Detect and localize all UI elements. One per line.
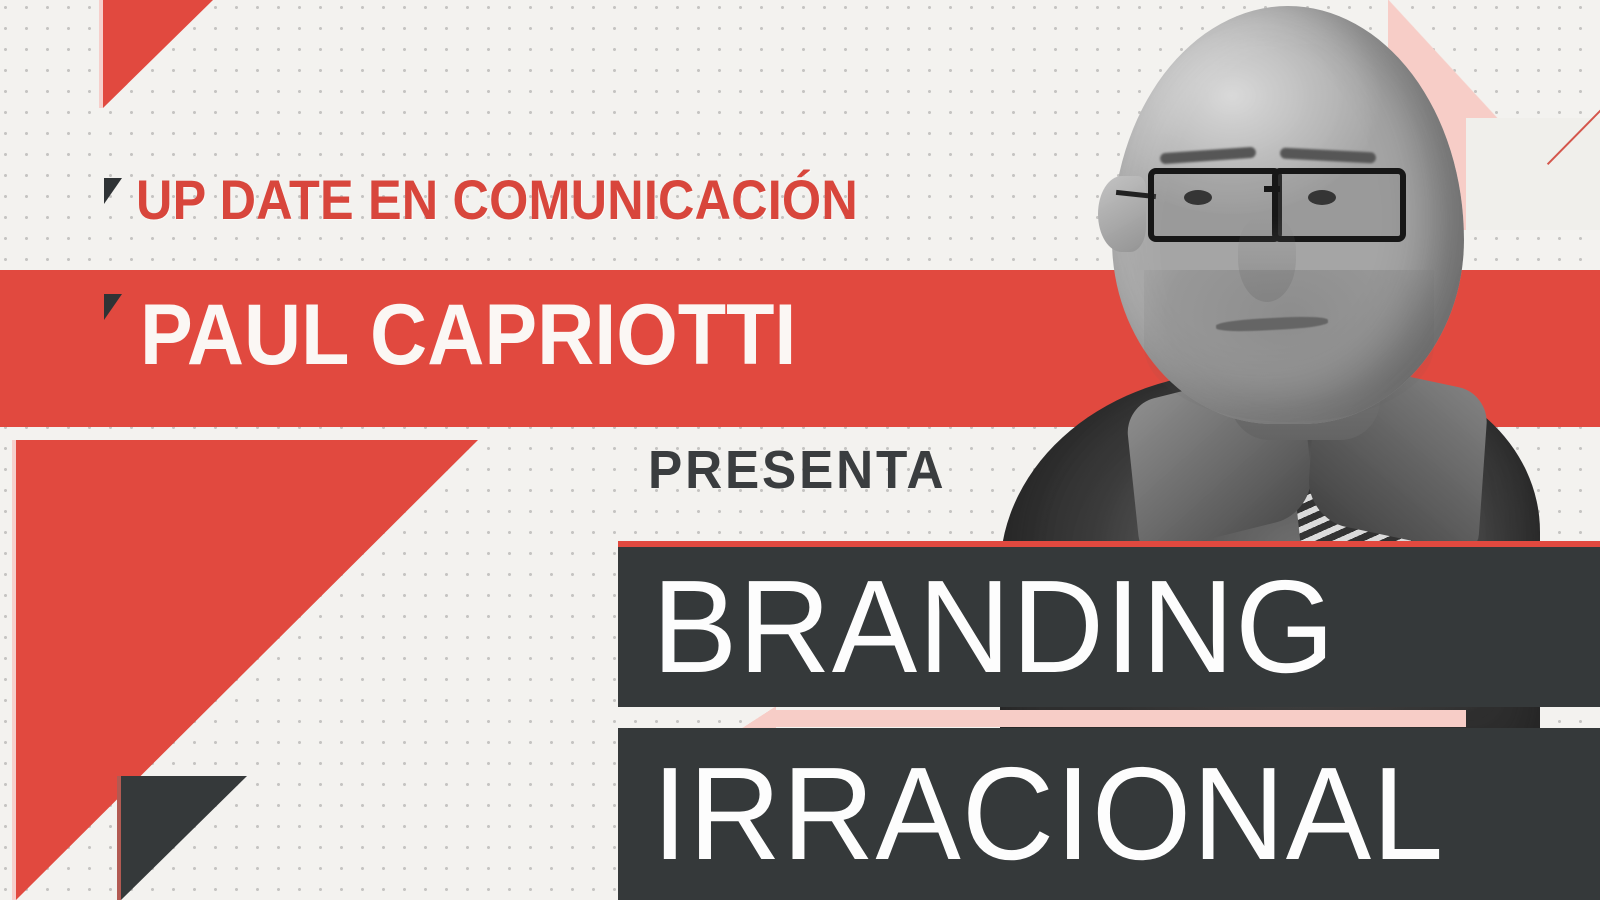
speaker-marker-triangle-icon [104,294,122,320]
title-line-1-text: BRANDING [652,561,1336,693]
title-box-line-1: BRANDING [618,541,1600,707]
title-line-2-text: IRRACIONAL [652,748,1444,880]
portrait-beard-stubble [1144,270,1434,422]
portrait-nose [1238,216,1296,302]
top-left-red-triangle-icon [103,0,213,108]
portrait-ear [1098,176,1146,252]
presenta-label: PRESENTA [648,443,946,497]
inner-charcoal-triangle-icon [121,776,247,900]
gap-pink-band [770,710,1466,727]
title-box-line-2: IRRACIONAL [618,728,1600,900]
kicker-marker-triangle-icon [104,178,122,204]
kicker-text: UP DATE EN COMUNICACIÓN [136,172,858,228]
event-poster: UP DATE EN COMUNICACIÓN PAUL CAPRIOTTI P… [0,0,1600,900]
portrait-glasses-bridge [1264,186,1280,192]
speaker-name: PAUL CAPRIOTTI [140,292,796,378]
bottom-left-red-triangle-icon [16,440,478,900]
